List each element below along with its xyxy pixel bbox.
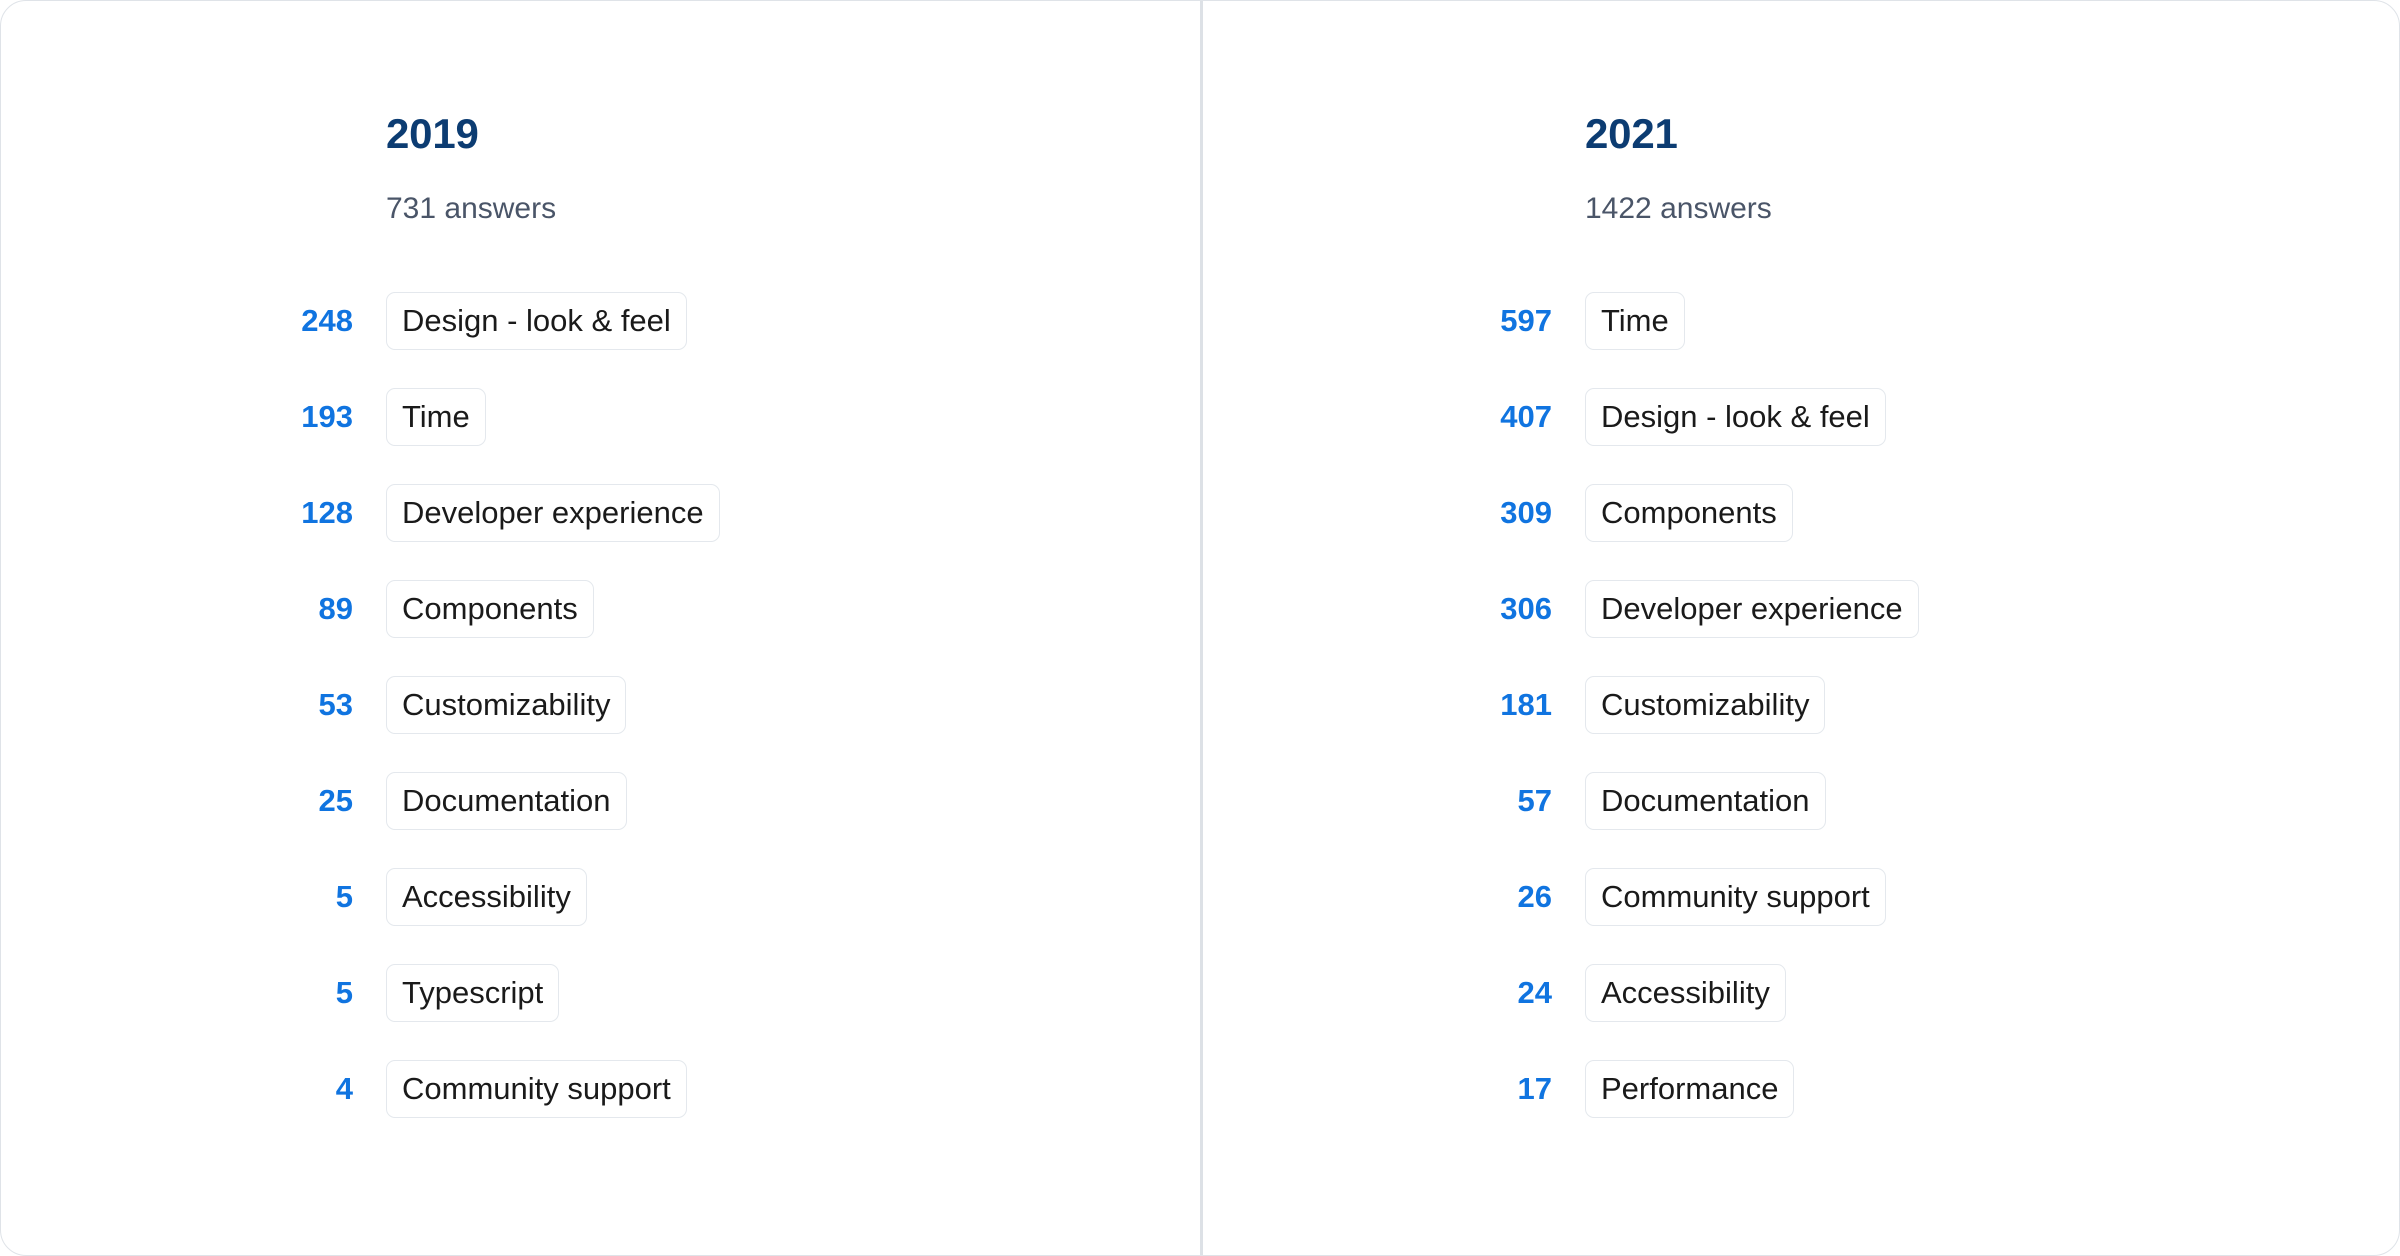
row-count: 181 (1203, 687, 1585, 723)
row-count: 5 (1, 879, 386, 915)
comparison-card: 2019 731 answers 248 Design - look & fee… (0, 0, 2400, 1256)
panel-2019: 2019 731 answers 248 Design - look & fee… (1, 1, 1200, 1255)
row-label-pill[interactable]: Community support (1585, 868, 1886, 926)
row-label-pill[interactable]: Developer experience (1585, 580, 1919, 638)
list-item[interactable]: 17 Performance (1203, 1041, 2399, 1137)
list-item[interactable]: 24 Accessibility (1203, 945, 2399, 1041)
row-count: 306 (1203, 591, 1585, 627)
list-item[interactable]: 128 Developer experience (1, 465, 1200, 561)
row-label-pill[interactable]: Performance (1585, 1060, 1794, 1118)
list-item[interactable]: 89 Components (1, 561, 1200, 657)
list-item[interactable]: 248 Design - look & feel (1, 273, 1200, 369)
list-item[interactable]: 4 Community support (1, 1041, 1200, 1137)
row-label-pill[interactable]: Time (386, 388, 486, 446)
list-item[interactable]: 25 Documentation (1, 753, 1200, 849)
row-label-pill[interactable]: Developer experience (386, 484, 720, 542)
row-count: 597 (1203, 303, 1585, 339)
row-count: 407 (1203, 399, 1585, 435)
row-label-pill[interactable]: Documentation (386, 772, 627, 830)
row-count: 17 (1203, 1071, 1585, 1107)
list-item[interactable]: 193 Time (1, 369, 1200, 465)
row-label-pill[interactable]: Time (1585, 292, 1685, 350)
row-label-pill[interactable]: Design - look & feel (386, 292, 687, 350)
row-label-pill[interactable]: Design - look & feel (1585, 388, 1886, 446)
list-item[interactable]: 26 Community support (1203, 849, 2399, 945)
row-label-pill[interactable]: Accessibility (386, 868, 587, 926)
row-count: 89 (1, 591, 386, 627)
list-item[interactable]: 407 Design - look & feel (1203, 369, 2399, 465)
row-label-pill[interactable]: Components (386, 580, 594, 638)
list-item[interactable]: 57 Documentation (1203, 753, 2399, 849)
year-heading-2021: 2021 (1585, 111, 1678, 157)
list-item[interactable]: 597 Time (1203, 273, 2399, 369)
list-item[interactable]: 53 Customizability (1, 657, 1200, 753)
list-item[interactable]: 306 Developer experience (1203, 561, 2399, 657)
panel-2019-content: 2019 731 answers 248 Design - look & fee… (386, 1, 1200, 1255)
row-count: 26 (1203, 879, 1585, 915)
panel-2021: 2021 1422 answers 597 Time 407 Design - … (1200, 1, 2399, 1255)
list-item[interactable]: 181 Customizability (1203, 657, 2399, 753)
row-count: 53 (1, 687, 386, 723)
panel-2021-content: 2021 1422 answers 597 Time 407 Design - … (1585, 1, 2399, 1255)
row-label-pill[interactable]: Typescript (386, 964, 559, 1022)
answers-count-2019: 731 answers (386, 191, 556, 227)
row-label-pill[interactable]: Customizability (386, 676, 626, 734)
year-heading-2019: 2019 (386, 111, 479, 157)
row-label-pill[interactable]: Documentation (1585, 772, 1826, 830)
row-label-pill[interactable]: Components (1585, 484, 1793, 542)
row-count: 24 (1203, 975, 1585, 1011)
row-label-pill[interactable]: Accessibility (1585, 964, 1786, 1022)
row-count: 128 (1, 495, 386, 531)
row-count: 248 (1, 303, 386, 339)
result-list-2021: 597 Time 407 Design - look & feel 309 Co… (1203, 273, 2399, 1137)
answers-count-2021: 1422 answers (1585, 191, 1772, 227)
row-label-pill[interactable]: Community support (386, 1060, 687, 1118)
row-count: 5 (1, 975, 386, 1011)
list-item[interactable]: 5 Accessibility (1, 849, 1200, 945)
row-label-pill[interactable]: Customizability (1585, 676, 1825, 734)
row-count: 25 (1, 783, 386, 819)
result-list-2019: 248 Design - look & feel 193 Time 128 De… (1, 273, 1200, 1137)
list-item[interactable]: 309 Components (1203, 465, 2399, 561)
row-count: 4 (1, 1071, 386, 1107)
row-count: 193 (1, 399, 386, 435)
row-count: 309 (1203, 495, 1585, 531)
row-count: 57 (1203, 783, 1585, 819)
list-item[interactable]: 5 Typescript (1, 945, 1200, 1041)
